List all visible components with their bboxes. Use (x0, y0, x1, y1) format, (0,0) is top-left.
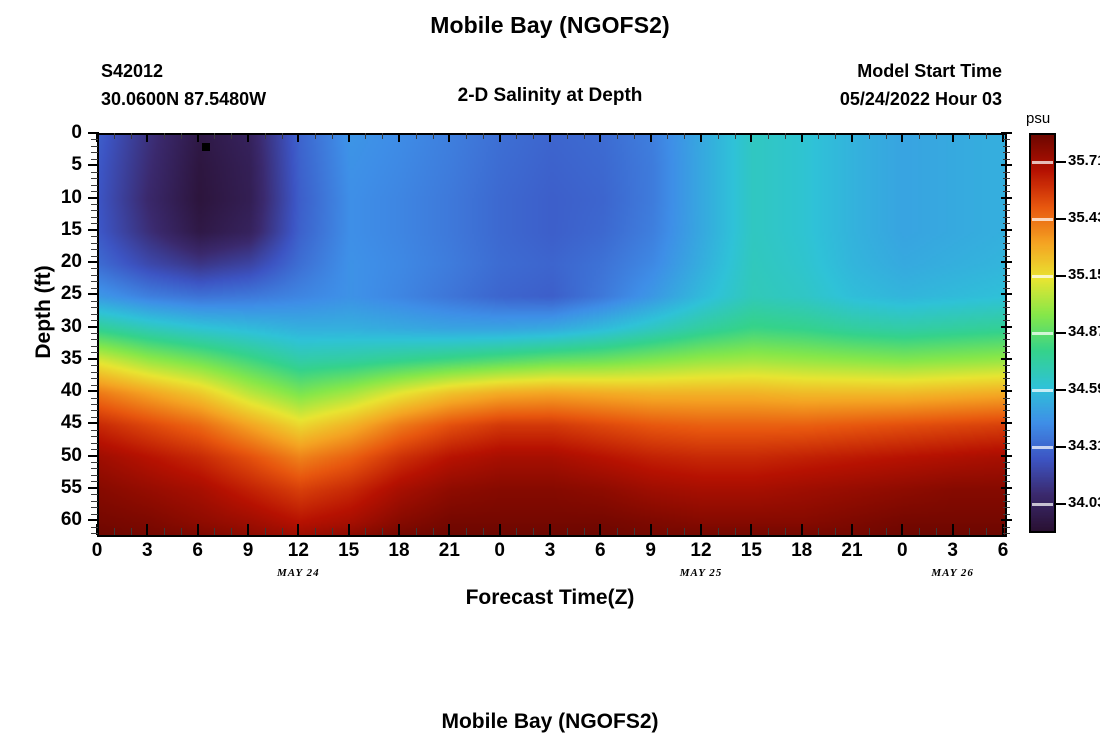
x-tick (247, 133, 249, 142)
y-tick-label: 10 (26, 187, 82, 209)
x-tick (700, 524, 702, 535)
y-minor-tick-right (1003, 139, 1010, 140)
y-minor-tick (91, 210, 98, 211)
y-minor-tick (91, 378, 98, 379)
x-tick (297, 133, 299, 142)
colorbar-tick (1056, 161, 1066, 163)
x-minor-tick (785, 528, 786, 535)
x-minor-tick (181, 133, 182, 139)
y-minor-tick-right (1003, 288, 1010, 289)
y-minor-tick-right (1003, 268, 1010, 269)
y-tick-label: 5 (26, 154, 82, 176)
x-minor-tick (684, 133, 685, 139)
x-tick (801, 133, 803, 142)
colorbar-inner-tick (1032, 389, 1053, 392)
y-minor-tick (91, 385, 98, 386)
x-minor-tick (785, 133, 786, 139)
x-tick (599, 133, 601, 142)
x-minor-tick (835, 133, 836, 139)
x-minor-tick (567, 528, 568, 535)
x-minor-tick (382, 133, 383, 139)
y-minor-tick (91, 372, 98, 373)
y-tick-label: 50 (26, 445, 82, 467)
y-tick-right (1001, 422, 1012, 424)
y-minor-tick (91, 417, 98, 418)
page-footer-title: Mobile Bay (NGOFS2) (0, 710, 1100, 734)
x-minor-tick (718, 133, 719, 139)
x-tick (801, 524, 803, 535)
y-tick (88, 358, 99, 360)
x-minor-tick (936, 133, 937, 139)
y-minor-tick (91, 275, 98, 276)
y-minor-tick (91, 172, 98, 173)
x-minor-tick (634, 528, 635, 535)
y-minor-tick-right (1003, 146, 1010, 147)
x-minor-tick (584, 133, 585, 139)
x-minor-tick (332, 528, 333, 535)
x-tick-label: 0 (74, 540, 120, 562)
y-minor-tick (91, 288, 98, 289)
y-tick-right (1001, 326, 1012, 328)
x-tick (96, 133, 98, 142)
y-minor-tick-right (1003, 443, 1010, 444)
y-minor-tick (91, 301, 98, 302)
x-tick (851, 524, 853, 535)
y-axis-title: Depth (ft) (32, 232, 56, 392)
y-tick-right (1001, 197, 1012, 199)
x-minor-tick (466, 528, 467, 535)
x-minor-tick (416, 133, 417, 139)
y-minor-tick (91, 352, 98, 353)
y-minor-tick (91, 430, 98, 431)
y-minor-tick (91, 152, 98, 153)
y-minor-tick (91, 501, 98, 502)
y-minor-tick-right (1003, 178, 1010, 179)
colorbar-inner-tick (1032, 503, 1053, 506)
y-minor-tick (91, 307, 98, 308)
y-minor-tick-right (1003, 217, 1010, 218)
x-tick-label: 0 (477, 540, 523, 562)
y-minor-tick-right (1003, 372, 1010, 373)
y-tick-right (1001, 519, 1012, 521)
y-minor-tick-right (1003, 223, 1010, 224)
y-minor-tick-right (1003, 533, 1010, 534)
x-minor-tick (483, 133, 484, 139)
colorbar-inner-tick (1032, 218, 1053, 221)
x-tick (549, 133, 551, 142)
x-tick (247, 524, 249, 535)
y-minor-tick-right (1003, 275, 1010, 276)
x-minor-tick (919, 133, 920, 139)
x-minor-tick (936, 528, 937, 535)
y-minor-tick-right (1003, 378, 1010, 379)
y-minor-tick-right (1003, 398, 1010, 399)
y-tick (88, 164, 99, 166)
y-minor-tick (91, 223, 98, 224)
y-minor-tick-right (1003, 514, 1010, 515)
x-tick-label: 0 (879, 540, 925, 562)
y-minor-tick (91, 507, 98, 508)
y-minor-tick (91, 339, 98, 340)
x-tick-label: 6 (980, 540, 1026, 562)
model-start-value: 05/24/2022 Hour 03 (0, 85, 1002, 113)
colorbar-tick (1056, 275, 1066, 277)
y-minor-tick-right (1003, 333, 1010, 334)
x-tick (901, 133, 903, 142)
x-minor-tick (282, 528, 283, 535)
y-tick (88, 519, 99, 521)
x-tick (398, 524, 400, 535)
y-tick (88, 422, 99, 424)
y-minor-tick (91, 481, 98, 482)
x-tick-label: 3 (527, 540, 573, 562)
x-tick-label: 15 (728, 540, 774, 562)
y-tick-right (1001, 293, 1012, 295)
y-minor-tick-right (1003, 301, 1010, 302)
y-minor-tick-right (1003, 352, 1010, 353)
x-tick (197, 524, 199, 535)
page-title: Mobile Bay (NGOFS2) (0, 12, 1100, 39)
colorbar-tick-label: 34.312 (1068, 437, 1100, 454)
y-minor-tick-right (1003, 307, 1010, 308)
y-minor-tick (91, 268, 98, 269)
colorbar-tick (1056, 503, 1066, 505)
y-minor-tick-right (1003, 449, 1010, 450)
colorbar-tick-label: 35.156 (1068, 266, 1100, 283)
y-minor-tick (91, 333, 98, 334)
y-minor-tick (91, 320, 98, 321)
y-minor-tick (91, 146, 98, 147)
x-date-label: MAY 26 (908, 567, 998, 579)
x-tick-label: 6 (577, 540, 623, 562)
x-tick (146, 524, 148, 535)
y-minor-tick-right (1003, 159, 1010, 160)
y-tick (88, 132, 99, 134)
x-minor-tick (986, 133, 987, 139)
x-minor-tick (735, 528, 736, 535)
x-tick (348, 133, 350, 142)
y-minor-tick (91, 243, 98, 244)
colorbar-inner-tick (1032, 332, 1053, 335)
y-tick (88, 261, 99, 263)
y-minor-tick-right (1003, 468, 1010, 469)
x-minor-tick (617, 133, 618, 139)
y-tick (88, 293, 99, 295)
y-tick-right (1001, 132, 1012, 134)
y-minor-tick-right (1003, 346, 1010, 347)
x-minor-tick (214, 528, 215, 535)
y-tick-right (1001, 487, 1012, 489)
y-minor-tick-right (1003, 314, 1010, 315)
colorbar-tick (1056, 332, 1066, 334)
salinity-heatmap-plot (97, 133, 1007, 537)
x-minor-tick (667, 133, 668, 139)
y-minor-tick-right (1003, 436, 1010, 437)
x-minor-tick (869, 133, 870, 139)
x-date-label: MAY 24 (253, 567, 343, 579)
y-minor-tick-right (1003, 365, 1010, 366)
x-tick-label: 12 (678, 540, 724, 562)
colorbar-tick-label: 34.875 (1068, 323, 1100, 340)
y-tick (88, 455, 99, 457)
y-minor-tick-right (1003, 256, 1010, 257)
y-minor-tick-right (1003, 404, 1010, 405)
y-minor-tick (91, 468, 98, 469)
y-minor-tick (91, 236, 98, 237)
y-minor-tick (91, 281, 98, 282)
y-minor-tick-right (1003, 417, 1010, 418)
y-minor-tick (91, 217, 98, 218)
x-minor-tick (483, 528, 484, 535)
y-tick-label: 0 (26, 122, 82, 144)
y-minor-tick (91, 475, 98, 476)
x-minor-tick (131, 528, 132, 535)
x-minor-tick (516, 133, 517, 139)
x-tick (146, 133, 148, 142)
x-tick (901, 524, 903, 535)
x-minor-tick (768, 528, 769, 535)
y-tick-right (1001, 261, 1012, 263)
x-tick (952, 133, 954, 142)
x-minor-tick (835, 528, 836, 535)
y-minor-tick-right (1003, 191, 1010, 192)
x-axis-title: Forecast Time(Z) (0, 586, 1100, 610)
station-depth-marker (202, 143, 210, 151)
y-minor-tick-right (1003, 236, 1010, 237)
y-minor-tick-right (1003, 410, 1010, 411)
x-minor-tick (332, 133, 333, 139)
colorbar-tick-label: 35.719 (1068, 152, 1100, 169)
y-minor-tick (91, 527, 98, 528)
x-tick (599, 524, 601, 535)
y-minor-tick-right (1003, 243, 1010, 244)
x-minor-tick (818, 133, 819, 139)
y-minor-tick (91, 365, 98, 366)
x-minor-tick (231, 133, 232, 139)
x-minor-tick (416, 528, 417, 535)
x-date-label: MAY 25 (656, 567, 746, 579)
y-tick-right (1001, 455, 1012, 457)
x-tick-label: 18 (376, 540, 422, 562)
y-minor-tick-right (1003, 430, 1010, 431)
x-minor-tick (516, 528, 517, 535)
y-minor-tick-right (1003, 185, 1010, 186)
x-tick-label: 9 (628, 540, 674, 562)
y-minor-tick (91, 533, 98, 534)
chart-canvas-root: Mobile Bay (NGOFS2) S42012 30.0600N 87.5… (0, 0, 1100, 750)
y-minor-tick (91, 314, 98, 315)
y-minor-tick (91, 178, 98, 179)
x-minor-tick (231, 528, 232, 535)
y-minor-tick-right (1003, 501, 1010, 502)
x-tick-label: 21 (426, 540, 472, 562)
y-minor-tick-right (1003, 210, 1010, 211)
x-minor-tick (986, 528, 987, 535)
x-tick-label: 9 (225, 540, 271, 562)
x-minor-tick (265, 528, 266, 535)
x-minor-tick (114, 133, 115, 139)
heatmap-canvas (99, 135, 1005, 535)
y-minor-tick-right (1003, 172, 1010, 173)
x-minor-tick (114, 528, 115, 535)
colorbar-inner-tick (1032, 161, 1053, 164)
x-tick (851, 133, 853, 142)
y-tick (88, 487, 99, 489)
x-tick (398, 133, 400, 142)
y-minor-tick (91, 443, 98, 444)
y-minor-tick (91, 404, 98, 405)
y-minor-tick (91, 346, 98, 347)
y-tick (88, 197, 99, 199)
y-minor-tick-right (1003, 475, 1010, 476)
x-minor-tick (969, 528, 970, 535)
x-tick-label: 6 (175, 540, 221, 562)
y-minor-tick-right (1003, 152, 1010, 153)
x-tick (1002, 133, 1004, 142)
x-minor-tick (433, 528, 434, 535)
x-minor-tick (131, 133, 132, 139)
x-minor-tick (684, 528, 685, 535)
y-minor-tick (91, 191, 98, 192)
salinity-field (99, 135, 1005, 535)
x-minor-tick (617, 528, 618, 535)
y-minor-tick-right (1003, 339, 1010, 340)
colorbar-tick (1056, 446, 1066, 448)
colorbar-tick (1056, 218, 1066, 220)
x-tick-label: 18 (779, 540, 825, 562)
x-tick (750, 524, 752, 535)
y-minor-tick-right (1003, 249, 1010, 250)
x-tick (297, 524, 299, 535)
y-tick (88, 390, 99, 392)
x-tick (197, 133, 199, 142)
y-minor-tick (91, 204, 98, 205)
y-minor-tick (91, 410, 98, 411)
y-minor-tick (91, 494, 98, 495)
x-minor-tick (533, 133, 534, 139)
x-minor-tick (667, 528, 668, 535)
x-minor-tick (382, 528, 383, 535)
x-tick (750, 133, 752, 142)
x-minor-tick (315, 528, 316, 535)
y-minor-tick-right (1003, 462, 1010, 463)
y-tick-label: 60 (26, 509, 82, 531)
colorbar-inner-tick (1032, 275, 1053, 278)
x-minor-tick (365, 528, 366, 535)
y-tick-right (1001, 358, 1012, 360)
y-minor-tick-right (1003, 281, 1010, 282)
x-minor-tick (886, 133, 887, 139)
x-minor-tick (164, 133, 165, 139)
x-tick (650, 133, 652, 142)
y-minor-tick (91, 256, 98, 257)
y-tick-right (1001, 390, 1012, 392)
y-minor-tick-right (1003, 494, 1010, 495)
x-minor-tick (768, 133, 769, 139)
x-tick (448, 524, 450, 535)
x-tick-label: 3 (930, 540, 976, 562)
x-tick-label: 21 (829, 540, 875, 562)
x-tick (499, 133, 501, 142)
y-minor-tick-right (1003, 527, 1010, 528)
x-tick (499, 524, 501, 535)
colorbar-tick-label: 34.031 (1068, 494, 1100, 511)
x-tick (700, 133, 702, 142)
x-tick (448, 133, 450, 142)
x-minor-tick (533, 528, 534, 535)
y-minor-tick (91, 185, 98, 186)
y-tick (88, 229, 99, 231)
x-minor-tick (164, 528, 165, 535)
y-minor-tick-right (1003, 507, 1010, 508)
x-minor-tick (567, 133, 568, 139)
y-tick-right (1001, 164, 1012, 166)
y-minor-tick-right (1003, 320, 1010, 321)
y-minor-tick (91, 159, 98, 160)
y-minor-tick-right (1003, 481, 1010, 482)
y-minor-tick (91, 462, 98, 463)
x-minor-tick (735, 133, 736, 139)
y-minor-tick-right (1003, 385, 1010, 386)
y-minor-tick-right (1003, 204, 1010, 205)
colorbar-inner-tick (1032, 446, 1053, 449)
colorbar-tick (1056, 389, 1066, 391)
x-tick (650, 524, 652, 535)
y-minor-tick (91, 139, 98, 140)
colorbar-units-label: psu (1026, 110, 1050, 127)
x-tick-label: 12 (275, 540, 321, 562)
y-tick (88, 326, 99, 328)
x-tick-label: 3 (124, 540, 170, 562)
colorbar-tick-label: 34.594 (1068, 380, 1100, 397)
x-tick (549, 524, 551, 535)
x-minor-tick (919, 528, 920, 535)
x-minor-tick (282, 133, 283, 139)
x-minor-tick (886, 528, 887, 535)
x-minor-tick (634, 133, 635, 139)
x-minor-tick (584, 528, 585, 535)
y-tick-label: 45 (26, 412, 82, 434)
x-minor-tick (315, 133, 316, 139)
y-minor-tick (91, 249, 98, 250)
x-tick (952, 524, 954, 535)
x-minor-tick (214, 133, 215, 139)
y-tick-right (1001, 229, 1012, 231)
x-minor-tick (265, 133, 266, 139)
y-tick-label: 55 (26, 477, 82, 499)
y-minor-tick (91, 514, 98, 515)
y-minor-tick (91, 398, 98, 399)
model-start-label: Model Start Time (0, 57, 1002, 85)
x-minor-tick (969, 133, 970, 139)
x-minor-tick (433, 133, 434, 139)
x-tick-label: 15 (326, 540, 372, 562)
model-start-info: Model Start Time 05/24/2022 Hour 03 (0, 57, 1002, 113)
x-minor-tick (718, 528, 719, 535)
x-minor-tick (181, 528, 182, 535)
y-minor-tick (91, 436, 98, 437)
colorbar-tick-label: 35.438 (1068, 209, 1100, 226)
y-minor-tick (91, 449, 98, 450)
x-tick (348, 524, 350, 535)
x-minor-tick (818, 528, 819, 535)
x-minor-tick (869, 528, 870, 535)
x-minor-tick (365, 133, 366, 139)
x-minor-tick (466, 133, 467, 139)
